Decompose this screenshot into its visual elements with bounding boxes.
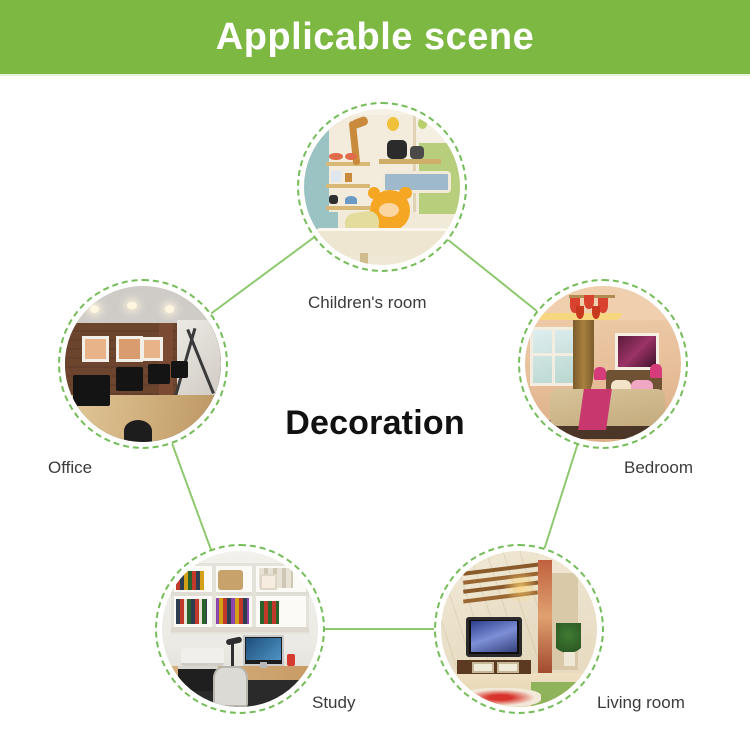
living-room-photo bbox=[441, 551, 597, 707]
scene-label-children-room: Children's room bbox=[308, 294, 427, 311]
header-banner: Applicable scene bbox=[0, 0, 750, 74]
page-title: Applicable scene bbox=[216, 18, 534, 56]
scene-label-living-room: Living room bbox=[597, 694, 685, 711]
scene-label-study: Study bbox=[312, 694, 355, 711]
scene-diagram: Children's room Bedroo bbox=[0, 74, 750, 750]
scene-node-living-room[interactable] bbox=[434, 544, 604, 714]
study-room-photo bbox=[162, 551, 318, 707]
children-room-photo bbox=[304, 109, 460, 265]
applicable-scene-page: Applicable scene bbox=[0, 0, 750, 750]
scene-node-children-room[interactable] bbox=[297, 102, 467, 272]
diagram-center-label: Decoration bbox=[0, 404, 750, 443]
scene-label-bedroom: Bedroom bbox=[624, 459, 693, 476]
scene-label-office: Office bbox=[48, 459, 92, 476]
dashed-ring-children-room bbox=[297, 102, 467, 272]
dashed-ring-study bbox=[155, 544, 325, 714]
dashed-ring-living-room bbox=[434, 544, 604, 714]
scene-node-study[interactable] bbox=[155, 544, 325, 714]
